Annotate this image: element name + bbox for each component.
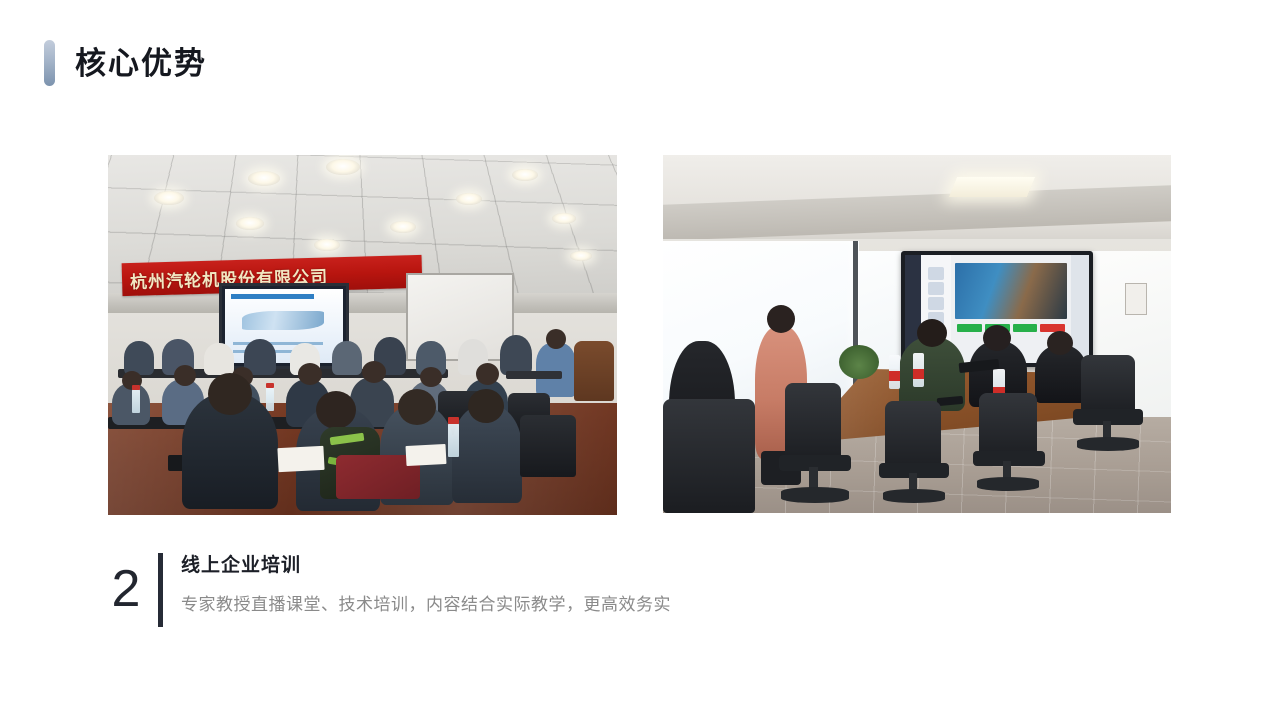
photo-videoconference bbox=[663, 155, 1171, 513]
ceiling-light bbox=[570, 251, 592, 261]
caption-description: 专家教授直播课堂、技术培训，内容结合实际教学，更高效务实 bbox=[181, 593, 671, 617]
ceiling-beam bbox=[108, 293, 617, 315]
ceiling-light bbox=[552, 213, 576, 224]
ceiling-light bbox=[248, 171, 280, 186]
chair-base bbox=[977, 477, 1039, 491]
person-head bbox=[983, 325, 1011, 351]
paper-sheet bbox=[277, 446, 324, 472]
participant-thumbnail bbox=[928, 282, 944, 295]
person-head bbox=[917, 319, 947, 347]
attendee-head bbox=[208, 373, 252, 415]
ceiling-light bbox=[314, 239, 340, 251]
chair-base bbox=[1077, 437, 1139, 451]
ceiling-light bbox=[512, 169, 538, 181]
potted-plant bbox=[839, 345, 879, 379]
control-button-green bbox=[957, 324, 982, 332]
page-title: 核心优势 bbox=[75, 48, 207, 79]
bottle-label bbox=[889, 371, 900, 381]
attendee bbox=[500, 335, 532, 375]
bottle-cap bbox=[448, 417, 459, 424]
caption-text: 线上企业培训 专家教授直播课堂、技术培训，内容结合实际教学，更高效务实 bbox=[181, 548, 671, 617]
armchair bbox=[574, 341, 614, 401]
ceiling-light bbox=[326, 159, 360, 175]
wall-frame bbox=[1125, 283, 1147, 315]
chair-base bbox=[781, 487, 849, 503]
caption-divider bbox=[158, 553, 163, 627]
attendee bbox=[204, 343, 234, 375]
ceiling-light bbox=[154, 191, 184, 205]
attendee-head bbox=[398, 389, 436, 425]
caption-number: 2 bbox=[96, 548, 156, 630]
chair-base bbox=[883, 489, 945, 503]
bottle-label bbox=[913, 369, 924, 379]
caption-block: 2 线上企业培训 专家教授直播课堂、技术培训，内容结合实际教学，更高效务实 bbox=[96, 548, 671, 630]
presenter-desk bbox=[506, 371, 562, 379]
video-control-bar bbox=[955, 324, 1067, 332]
office-chair-back bbox=[663, 399, 755, 513]
presenter bbox=[536, 343, 576, 397]
ceiling-light bbox=[236, 217, 264, 230]
slide-header: 核心优势 bbox=[44, 40, 207, 86]
attendee-head bbox=[420, 367, 442, 387]
accent-pill-icon bbox=[44, 40, 55, 86]
person-head bbox=[1047, 331, 1073, 355]
attendee-head bbox=[476, 363, 499, 385]
person-head bbox=[767, 305, 795, 333]
chair-back bbox=[520, 415, 576, 477]
turbine-diagram bbox=[242, 311, 325, 330]
slide-header-bar bbox=[231, 294, 314, 299]
video-feed bbox=[955, 263, 1067, 319]
attendee-head bbox=[298, 363, 322, 385]
water-bottle bbox=[266, 387, 274, 411]
attendee-head bbox=[316, 391, 356, 429]
attendee bbox=[124, 341, 154, 375]
photo-classroom: 杭州汽轮机股份有限公司 bbox=[108, 155, 617, 515]
office-chair-back bbox=[785, 383, 841, 465]
ceiling-panel-light bbox=[949, 177, 1035, 197]
caption-heading: 线上企业培训 bbox=[181, 553, 671, 579]
water-bottle bbox=[132, 389, 140, 413]
bottle-cap bbox=[266, 383, 274, 388]
ceiling-light bbox=[456, 193, 482, 205]
projection-screen bbox=[219, 283, 349, 369]
projection-screen-content bbox=[225, 289, 343, 363]
attendee-head bbox=[362, 361, 386, 383]
control-button-green bbox=[1013, 324, 1038, 332]
attendee-head bbox=[468, 389, 504, 423]
participant-thumbnail bbox=[928, 297, 944, 310]
water-bottle bbox=[448, 423, 459, 457]
paper-sheet bbox=[406, 444, 447, 466]
attendee bbox=[332, 341, 362, 375]
bottle-cap bbox=[132, 385, 140, 390]
presenter-head bbox=[546, 329, 566, 349]
participant-thumbnail bbox=[928, 267, 944, 280]
attendee-head bbox=[174, 365, 196, 386]
ceiling-light bbox=[390, 221, 416, 233]
